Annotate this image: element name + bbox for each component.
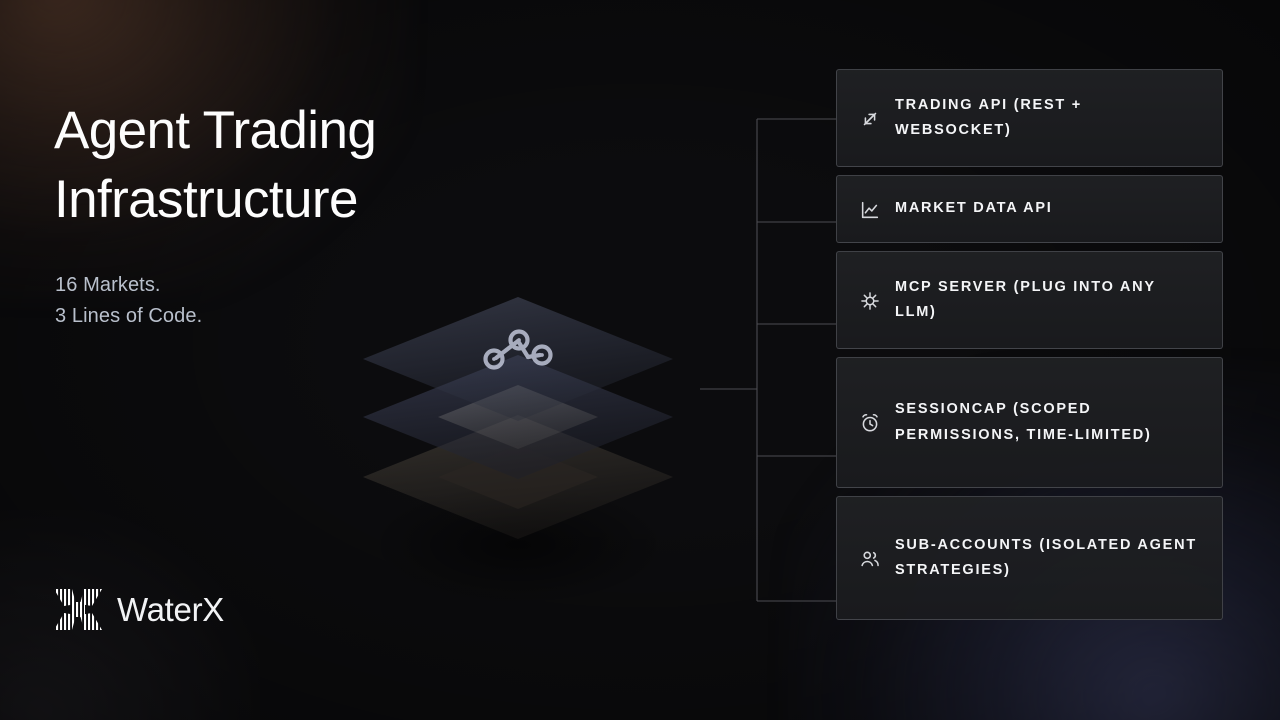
isometric-stack-graphic: [333, 245, 703, 615]
line-chart-icon: [859, 199, 881, 221]
feature-card-trading-api[interactable]: Trading API (REST + WebSocket): [836, 69, 1223, 167]
plug-spark-icon: [859, 290, 881, 312]
page-title-line-1: Agent Trading: [54, 97, 524, 166]
feature-card-label: MCP Server (plug into any LLM): [895, 275, 1202, 326]
feature-card-list: Trading API (REST + WebSocket) Market Da…: [836, 69, 1223, 620]
feature-card-label: Trading API (REST + WebSocket): [895, 93, 1202, 144]
page-title: Agent Trading Infrastructure: [54, 97, 524, 235]
feature-card-sessioncap[interactable]: SessionCap (scoped permissions, time-lim…: [836, 357, 1223, 488]
feature-card-label: Market Data API: [895, 196, 1053, 221]
feature-card-label: Sub-accounts (isolated agent strategies): [895, 533, 1202, 584]
alarm-clock-icon: [859, 412, 881, 434]
page-subtitle-line-1: 16 Markets.: [55, 270, 202, 301]
feature-card-market-data[interactable]: Market Data API: [836, 175, 1223, 243]
feature-card-mcp-server[interactable]: MCP Server (plug into any LLM): [836, 251, 1223, 349]
arrows-transfer-icon: [859, 108, 881, 130]
page-subtitle-line-2: 3 Lines of Code.: [55, 301, 202, 332]
users-icon: [859, 548, 881, 570]
page-subtitle: 16 Markets. 3 Lines of Code.: [55, 270, 202, 332]
feature-card-label: SessionCap (scoped permissions, time-lim…: [895, 397, 1202, 448]
brand-name: WaterX: [117, 591, 224, 629]
brand-logo: WaterX: [52, 586, 224, 633]
feature-card-sub-accounts[interactable]: Sub-accounts (isolated agent strategies): [836, 496, 1223, 620]
page-title-line-2: Infrastructure: [54, 166, 524, 235]
waterx-x-mark-icon: [52, 586, 104, 633]
